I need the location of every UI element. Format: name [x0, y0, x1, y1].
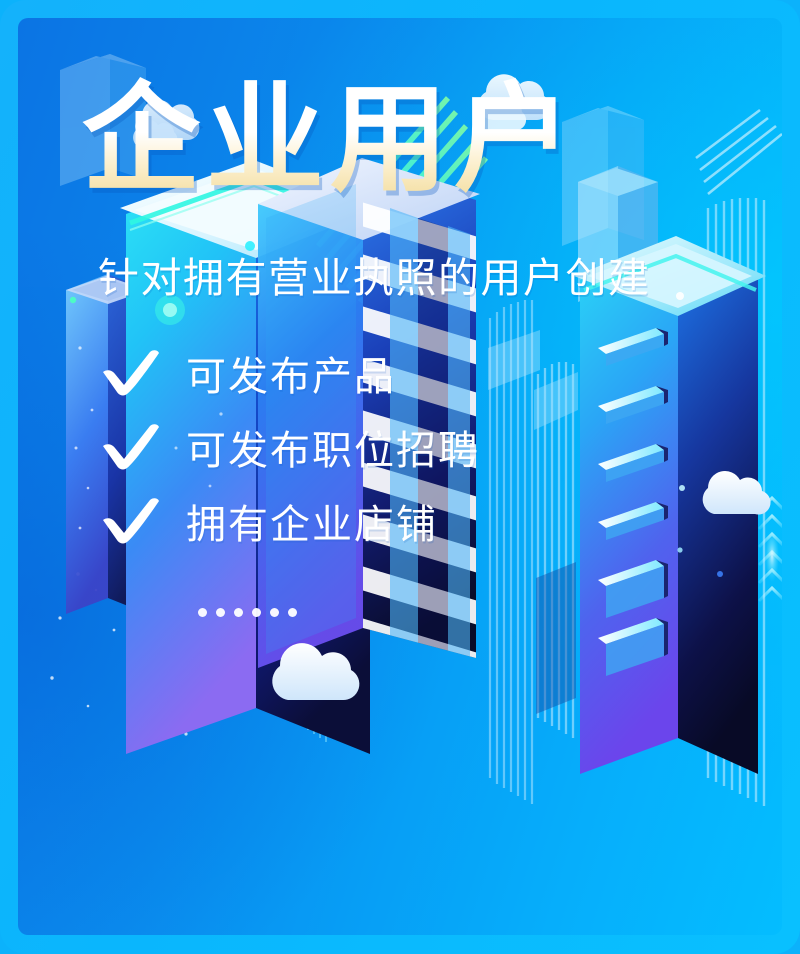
tower-hatch-mid [534, 362, 578, 738]
dot [234, 608, 243, 617]
dot [252, 608, 261, 617]
dot [198, 608, 207, 617]
card-panel: 企业用户 针对拥有营业执照的用户创建 可发布产品 可发布职位招聘 拥有企业店铺 [18, 18, 782, 935]
check-icon [100, 349, 162, 397]
page-title: 企业用户 [82, 73, 578, 208]
dot [270, 608, 279, 617]
dot [288, 608, 297, 617]
cloud-right [703, 471, 771, 515]
feature-list: 可发布产品 可发布职位招聘 拥有企业店铺 [100, 336, 480, 558]
page-subtitle: 针对拥有营业执照的用户创建 [98, 254, 651, 303]
dot [216, 608, 225, 617]
list-item: 可发布产品 [100, 336, 480, 410]
list-item: 可发布职位招聘 [100, 410, 480, 484]
feature-label: 可发布职位招聘 [186, 418, 480, 476]
feature-label: 可发布产品 [186, 344, 396, 402]
more-indicator [198, 608, 297, 617]
enterprise-user-card: 企业用户 针对拥有营业执照的用户创建 可发布产品 可发布职位招聘 拥有企业店铺 [0, 0, 800, 954]
list-item: 拥有企业店铺 [100, 484, 480, 558]
check-icon [100, 497, 162, 545]
hatch-fan-center-right [488, 300, 540, 804]
feature-label: 拥有企业店铺 [186, 492, 438, 550]
check-icon [100, 423, 162, 471]
